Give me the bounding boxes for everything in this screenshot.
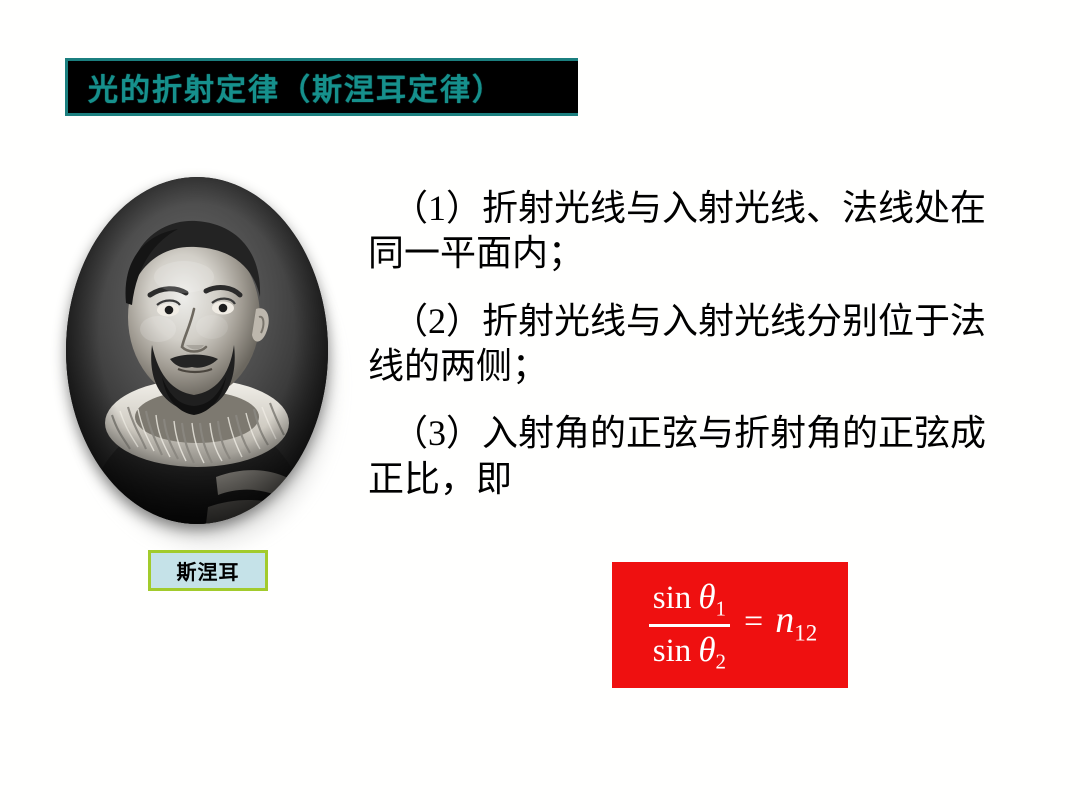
snell-law-formula-box: sinθ1 sinθ2 = n12: [612, 562, 848, 688]
law-item-1: （1）折射光线与入射光线、法线处在同一平面内；: [368, 186, 1008, 277]
formula-denominator-theta: θ: [691, 630, 715, 669]
formula-equals-sign: =: [740, 603, 765, 647]
portrait-name-label-text: 斯涅耳: [177, 556, 240, 585]
formula-numerator-fn: sin: [653, 580, 692, 616]
formula-numerator-theta: θ: [691, 577, 715, 616]
law-item-2: （2）折射光线与入射光线分别位于法线的两侧；: [368, 299, 1008, 390]
formula-right-hand-side: n12: [775, 598, 817, 653]
formula-denominator-fn: sin: [653, 633, 692, 669]
law-item-3: （3）入射角的正弦与折射角的正弦成正比，即: [368, 411, 1008, 502]
portrait-name-label: 斯涅耳: [148, 550, 268, 591]
formula-denominator-subscript: 2: [716, 649, 727, 673]
portrait-figure: [66, 177, 338, 537]
formula-fraction: sinθ1 sinθ2: [649, 576, 730, 674]
formula-denominator: sinθ2: [649, 629, 730, 674]
slide-title-banner: 光的折射定律（斯涅耳定律）: [65, 58, 578, 116]
formula-rhs-subscript: 12: [794, 620, 817, 645]
refraction-law-list: （1）折射光线与入射光线、法线处在同一平面内； （2）折射光线与入射光线分别位于…: [368, 186, 1008, 502]
portrait-image-snellius: [66, 177, 328, 524]
formula-numerator: sinθ1: [649, 576, 730, 621]
formula-numerator-subscript: 1: [716, 597, 727, 621]
formula-fraction-bar: [649, 624, 730, 627]
formula-rhs-var: n: [775, 599, 794, 641]
page-title: 光的折射定律（斯涅耳定律）: [68, 65, 504, 109]
